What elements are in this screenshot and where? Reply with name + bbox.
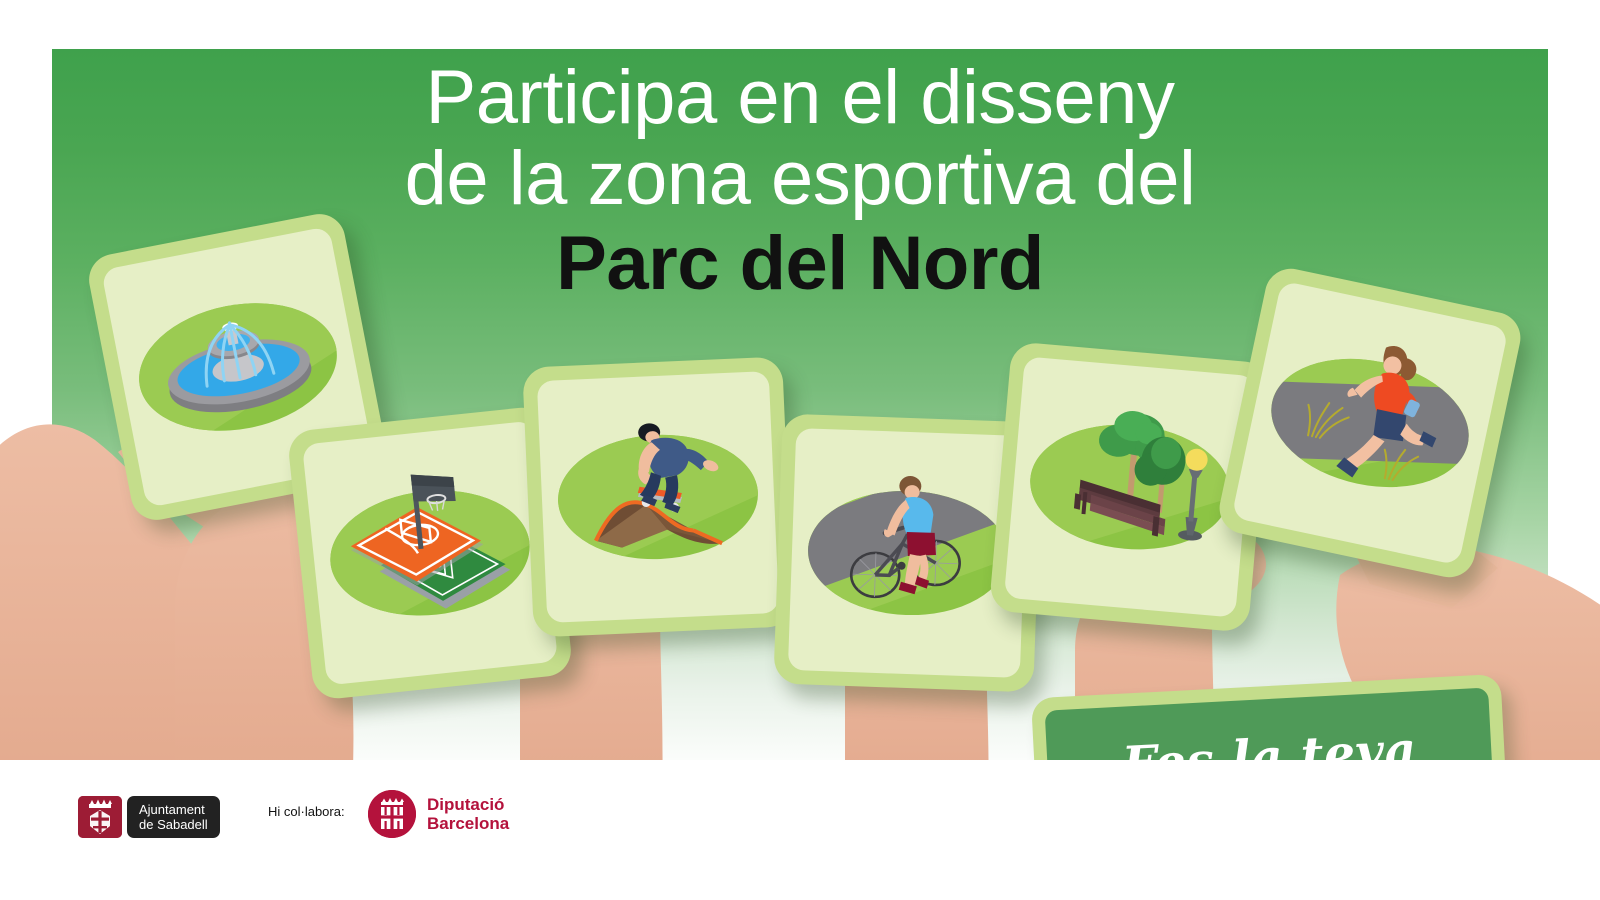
diputacio-line-2: Barcelona bbox=[427, 814, 509, 833]
grass-tuft-right bbox=[1379, 446, 1419, 484]
grass-tuft-left bbox=[1302, 399, 1351, 443]
bench bbox=[1072, 479, 1168, 537]
running-icon bbox=[1231, 281, 1508, 566]
diputacio-barcelona-seal-icon bbox=[368, 790, 416, 838]
diputacio-name: Diputació Barcelona bbox=[427, 795, 509, 833]
skatepark-icon bbox=[537, 371, 779, 623]
card-face bbox=[1231, 281, 1508, 566]
ajuntament-de-sabadell-logo[interactable]: Ajuntament de Sabadell bbox=[78, 796, 220, 838]
ajuntament-line-1: Ajuntament bbox=[139, 802, 208, 817]
card-skate[interactable] bbox=[522, 356, 794, 637]
bench-tree-lamp-icon bbox=[1004, 356, 1256, 617]
collaborator-label: Hi col·labora: bbox=[268, 804, 345, 819]
diputacio-line-1: Diputació bbox=[427, 795, 509, 814]
card-face bbox=[302, 421, 558, 686]
card-face bbox=[788, 428, 1028, 678]
cycling-icon bbox=[788, 428, 1028, 678]
card-face bbox=[537, 371, 779, 623]
ajuntament-line-2: de Sabadell bbox=[139, 817, 208, 832]
diputacio-barcelona-logo[interactable]: Diputació Barcelona bbox=[368, 790, 509, 838]
ajuntament-name: Ajuntament de Sabadell bbox=[127, 796, 220, 838]
card-face bbox=[1004, 356, 1256, 617]
sabadell-coat-of-arms-icon bbox=[78, 796, 122, 838]
card-run[interactable] bbox=[1215, 264, 1525, 582]
sports-courts-icon bbox=[302, 421, 558, 686]
footer-logos: Ajuntament de Sabadell Hi col·labora: bbox=[0, 760, 1600, 900]
poster-canvas: Fes la teva aportació! Participa en el d… bbox=[0, 0, 1600, 900]
